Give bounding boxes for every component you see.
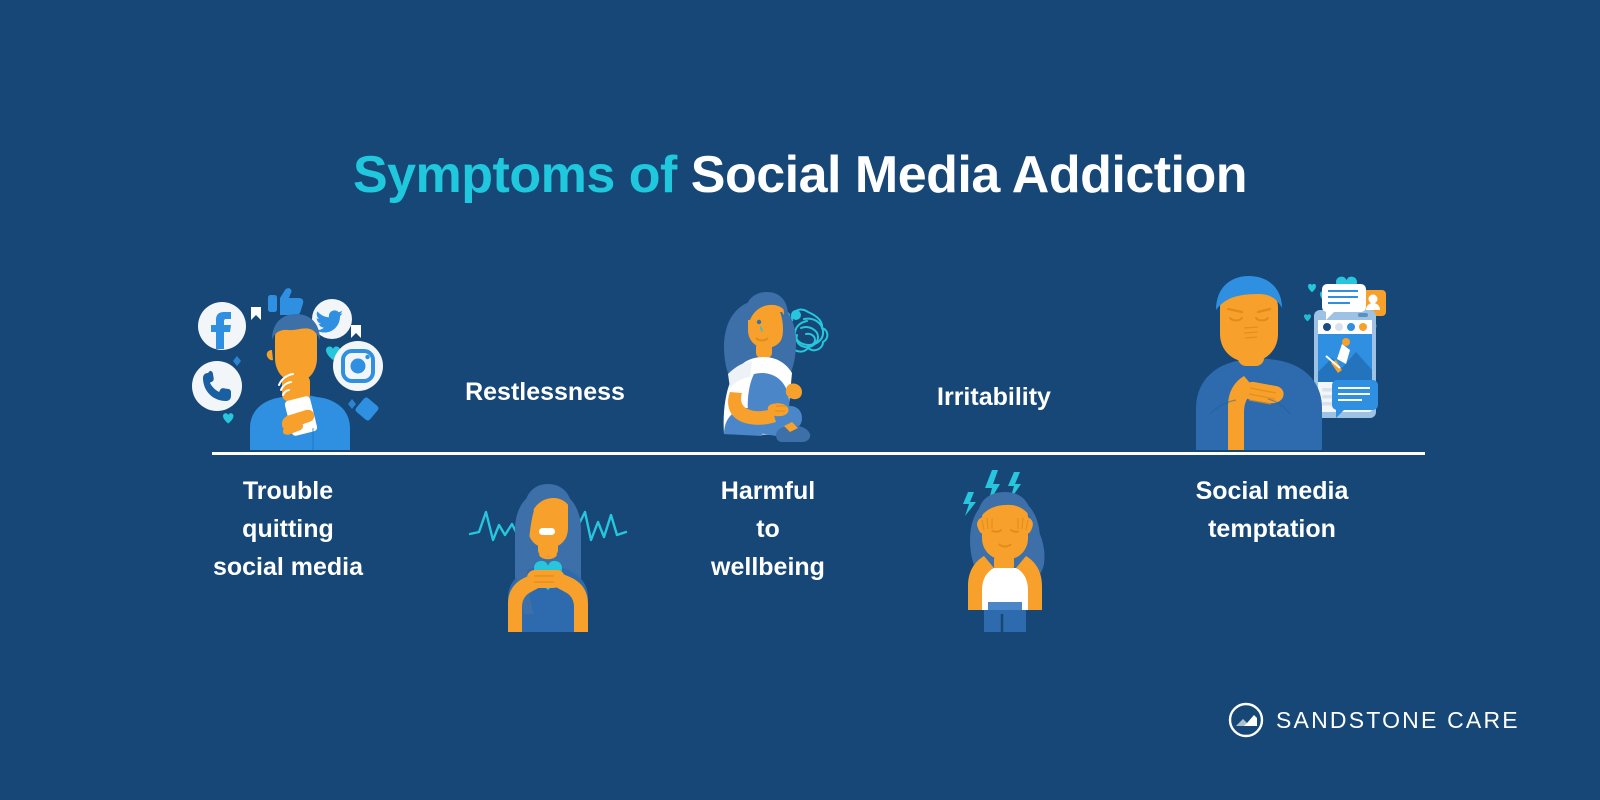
illustration-person-with-phone-social-icons (180, 278, 400, 450)
symptom-label-trouble-quitting-social-media: Trouble quitting social media (158, 472, 418, 586)
illustration-person-hugging-knees-tangled-thoughts (702, 274, 852, 450)
infographic-canvas: Symptoms of Social Media Addiction (0, 0, 1600, 800)
symptom-label-restlessness: Restlessness (395, 373, 695, 411)
brand-name: SANDSTONE CARE (1276, 707, 1520, 734)
symptom-label-social-media-temptation: Social media temptation (1132, 472, 1412, 548)
illustration-person-scrolling-phone-feed-hearts (1186, 264, 1386, 450)
page-title: Symptoms of Social Media Addiction (0, 140, 1600, 210)
sandstone-mountain-circle-icon (1228, 702, 1264, 738)
page-title-accent: Symptoms of (353, 146, 677, 204)
brand-logo[interactable]: SANDSTONE CARE (1228, 702, 1520, 738)
page-title-plain: Social Media Addiction (677, 146, 1247, 204)
timeline-divider (212, 452, 1425, 455)
symptom-label-irritability: Irritability (844, 378, 1144, 416)
symptom-label-harmful-to-wellbeing: Harmful to wellbeing (638, 472, 898, 586)
illustration-person-clutching-chest-heartbeat (468, 462, 628, 632)
illustration-person-head-in-hands-lightning (930, 462, 1080, 632)
